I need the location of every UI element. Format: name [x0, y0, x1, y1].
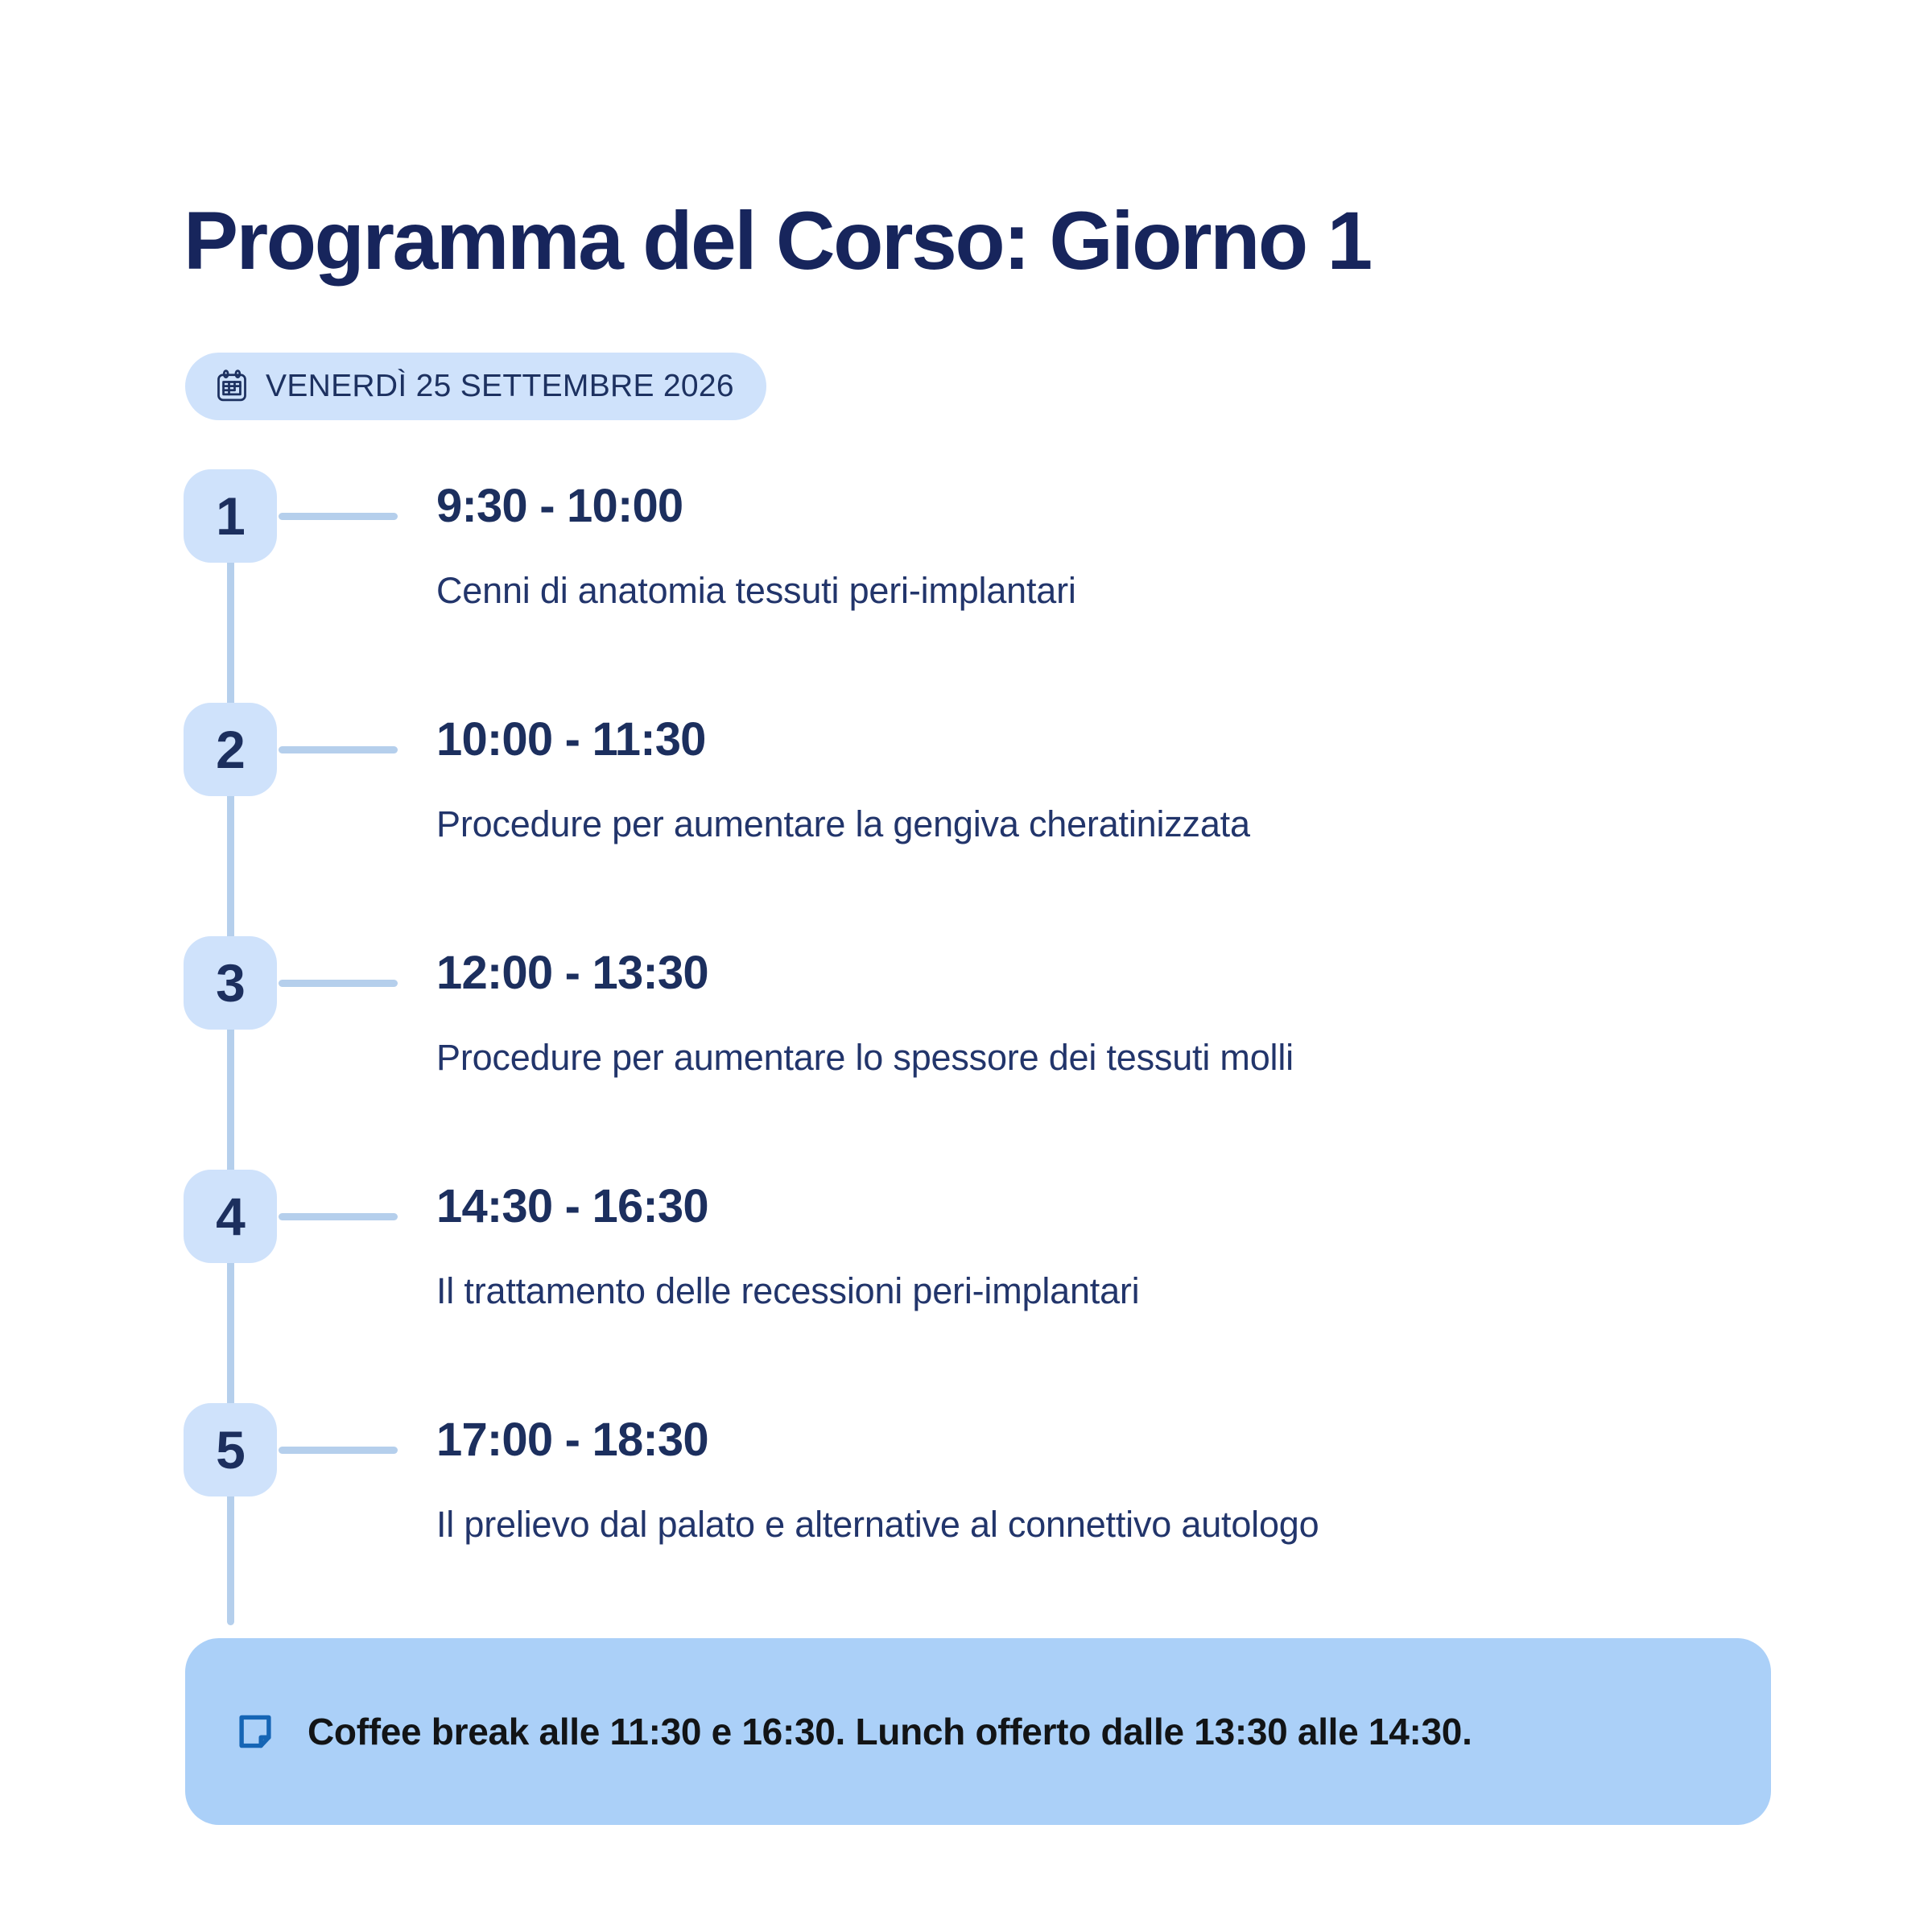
step-description: Il prelievo dal palato e alternative al … [436, 1501, 1757, 1549]
step-number: 1 [216, 489, 245, 543]
step-time: 14:30 - 16:30 [436, 1179, 1757, 1234]
step-description: Il trattamento delle recessioni peri-imp… [436, 1268, 1757, 1315]
timeline-item: 4 14:30 - 16:30 Il trattamento delle rec… [184, 1170, 1777, 1403]
step-content: 10:00 - 11:30 Procedure per aumentare la… [436, 703, 1757, 848]
step-connector [279, 513, 398, 520]
timeline-item: 1 9:30 - 10:00 Cenni di anatomia tessuti… [184, 469, 1777, 703]
page-title: Programma del Corso: Giorno 1 [184, 196, 1371, 286]
step-description: Cenni di anatomia tessuti peri-implantar… [436, 568, 1757, 615]
step-content: 9:30 - 10:00 Cenni di anatomia tessuti p… [436, 469, 1757, 615]
step-time: 12:00 - 13:30 [436, 946, 1757, 1001]
calendar-icon [214, 369, 250, 404]
step-connector [279, 1447, 398, 1454]
step-time: 10:00 - 11:30 [436, 712, 1757, 767]
step-time: 17:00 - 18:30 [436, 1413, 1757, 1468]
step-content: 14:30 - 16:30 Il trattamento delle reces… [436, 1170, 1757, 1315]
step-number: 4 [216, 1190, 245, 1243]
timeline-item: 2 10:00 - 11:30 Procedure per aumentare … [184, 703, 1777, 936]
step-badge-4: 4 [184, 1170, 277, 1263]
step-connector [279, 980, 398, 987]
step-connector [279, 746, 398, 753]
course-program-page: Programma del Corso: Giorno 1 VENERDÌ 25… [0, 0, 1932, 1932]
step-number: 2 [216, 723, 245, 776]
step-connector [279, 1213, 398, 1220]
step-content: 12:00 - 13:30 Procedure per aumentare lo… [436, 936, 1757, 1082]
timeline: 1 9:30 - 10:00 Cenni di anatomia tessuti… [184, 469, 1777, 1612]
step-description: Procedure per aumentare lo spessore dei … [436, 1034, 1757, 1082]
note-panel: Coffee break alle 11:30 e 16:30. Lunch o… [185, 1638, 1771, 1825]
date-badge-label: VENERDÌ 25 SETTEMBRE 2026 [266, 369, 734, 404]
note-text: Coffee break alle 11:30 e 16:30. Lunch o… [308, 1710, 1472, 1753]
step-content: 17:00 - 18:30 Il prelievo dal palato e a… [436, 1403, 1757, 1549]
sticky-note-icon [233, 1710, 277, 1753]
step-time: 9:30 - 10:00 [436, 479, 1757, 534]
step-badge-3: 3 [184, 936, 277, 1030]
step-number: 5 [216, 1423, 245, 1476]
timeline-item: 3 12:00 - 13:30 Procedure per aumentare … [184, 936, 1777, 1170]
step-description: Procedure per aumentare la gengiva chera… [436, 801, 1757, 848]
step-badge-2: 2 [184, 703, 277, 796]
step-badge-1: 1 [184, 469, 277, 563]
step-number: 3 [216, 956, 245, 1009]
timeline-item: 5 17:00 - 18:30 Il prelievo dal palato e… [184, 1403, 1777, 1612]
step-badge-5: 5 [184, 1403, 277, 1496]
date-badge: VENERDÌ 25 SETTEMBRE 2026 [185, 353, 766, 420]
